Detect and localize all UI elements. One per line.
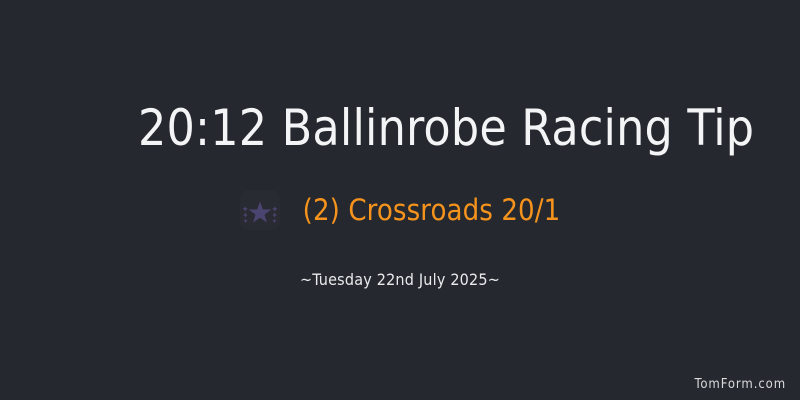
page-title: 20:12 Ballinrobe Racing Tip	[138, 99, 760, 157]
page-title-label: 20:12 Ballinrobe Racing Tip	[138, 103, 754, 153]
race-date-label: ~Tuesday 22nd July 2025~	[300, 270, 500, 289]
tip-selection-row[interactable]: (2) Crossroads 20/1	[0, 188, 800, 232]
racing-tip-card: 20:12 Ballinrobe Racing Tip (2) Crossroa…	[0, 0, 800, 400]
sparkle-star-icon	[240, 190, 280, 230]
race-date: ~Tuesday 22nd July 2025~	[0, 270, 800, 290]
tip-selection-label: (2) Crossroads 20/1	[303, 196, 561, 225]
brand-footer-label: TomForm.com	[695, 377, 786, 392]
brand-footer[interactable]: TomForm.com	[695, 375, 786, 393]
